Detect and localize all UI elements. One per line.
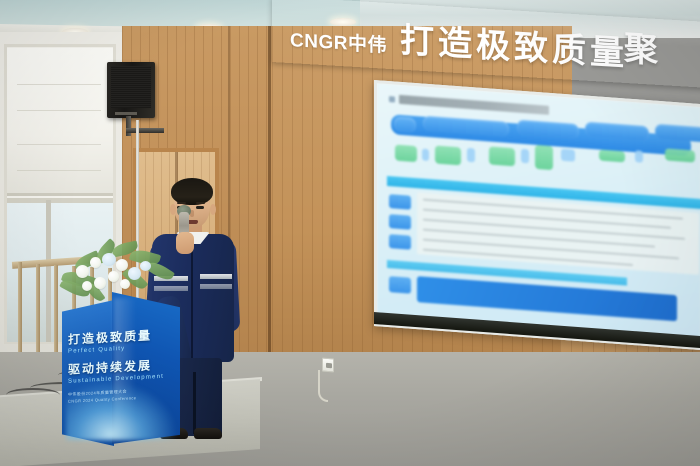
flower-arrangement-icon <box>60 243 178 311</box>
slide-title-text <box>399 95 549 115</box>
detail-chip <box>521 149 529 164</box>
reflective-stripe <box>200 284 232 289</box>
eyebrow <box>196 202 205 204</box>
detail-chip <box>435 145 461 165</box>
reflective-stripe <box>200 274 232 279</box>
wall-seam <box>268 26 271 378</box>
detail-chip <box>395 145 417 163</box>
banner-headline-tail: 聚 <box>624 21 662 72</box>
cngr-logo: CNGR中伟 <box>290 25 387 58</box>
eyebrow <box>177 202 186 204</box>
detail-chip <box>535 145 553 170</box>
detail-chip <box>665 148 695 162</box>
window-rail <box>7 198 113 203</box>
conference-photo-scene: CNGR中伟 打造极致质量 聚 <box>0 0 700 466</box>
row-label-tab <box>389 276 411 294</box>
slide-bullet-marker <box>389 96 395 102</box>
row-label-tab <box>389 214 411 230</box>
detail-chip <box>422 149 429 162</box>
ear <box>210 204 216 215</box>
flow-chip <box>394 116 416 133</box>
eye <box>196 206 204 209</box>
ear <box>170 204 176 215</box>
row-label-tab <box>389 194 411 210</box>
outlet-cable <box>318 370 328 402</box>
leg-split <box>193 372 196 434</box>
projection-screen <box>374 80 700 350</box>
lectern-text-block: 打造极致质量 Perfect Quality 驱动持续发展 Sustainabl… <box>68 328 174 401</box>
detail-chip <box>467 148 475 163</box>
detail-chip <box>635 150 643 163</box>
detail-chip <box>599 150 625 163</box>
footer-callout <box>417 276 677 321</box>
speaker-bracket-arm <box>126 128 164 133</box>
row-label-tab <box>389 234 411 250</box>
detail-chip <box>489 146 515 166</box>
hand <box>176 232 194 254</box>
slide-content <box>377 83 700 347</box>
hair <box>171 178 213 205</box>
banner-headline: 打造极致质量 <box>400 13 628 76</box>
shoe <box>194 428 222 439</box>
jacket-zipper <box>191 238 193 358</box>
loudspeaker-icon <box>107 62 155 118</box>
detail-chip <box>561 149 575 162</box>
window-blind <box>7 48 113 196</box>
speaker-bracket <box>126 116 131 136</box>
